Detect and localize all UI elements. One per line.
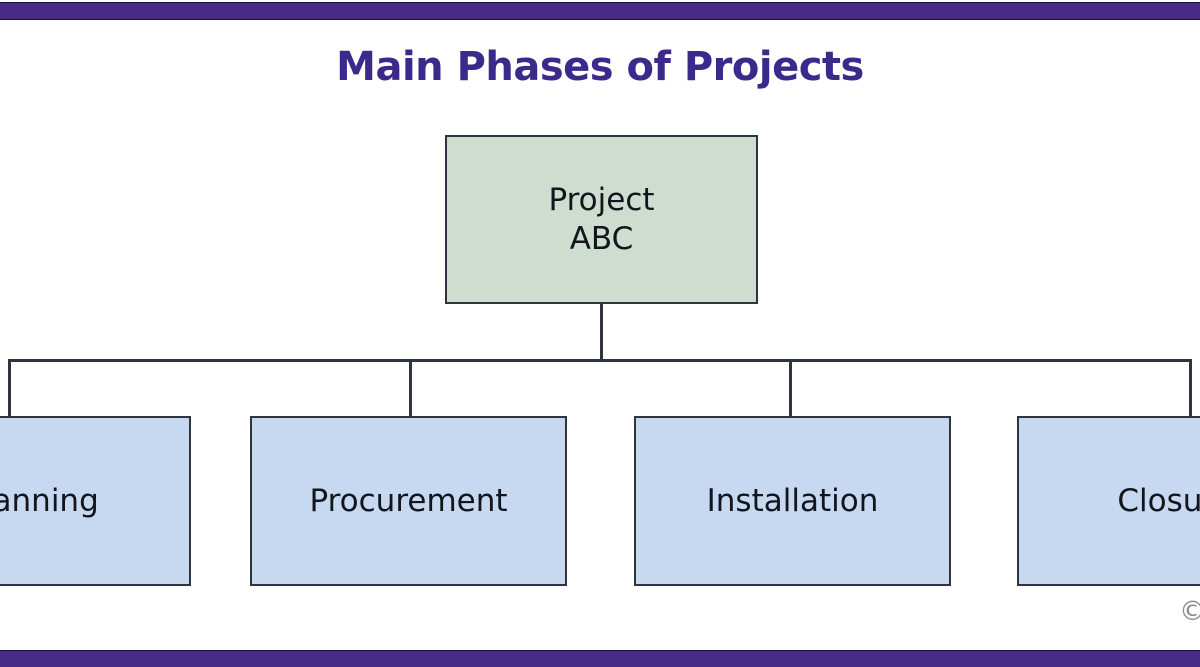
- connector-drop-installation: [789, 359, 792, 417]
- node-phase-installation-label: Installation: [707, 482, 879, 521]
- node-phase-closure[interactable]: Closure: [1017, 416, 1200, 586]
- bottom-decorative-band: [0, 650, 1200, 667]
- node-phase-procurement[interactable]: Procurement: [250, 416, 567, 586]
- node-phase-procurement-label: Procurement: [309, 482, 507, 521]
- connector-drop-closure: [1189, 359, 1192, 417]
- diagram-canvas: Main Phases of Projects Project ABC Plan…: [0, 0, 1200, 667]
- page-title: Main Phases of Projects: [0, 44, 1200, 90]
- node-root-label: Project ABC: [548, 181, 654, 259]
- node-phase-planning-label: Planning: [0, 482, 99, 521]
- connector-root-trunk: [600, 304, 603, 361]
- node-phase-planning[interactable]: Planning: [0, 416, 191, 586]
- node-root-project[interactable]: Project ABC: [445, 135, 758, 304]
- node-phase-installation[interactable]: Installation: [634, 416, 951, 586]
- node-phase-closure-label: Closure: [1117, 482, 1200, 521]
- connector-drop-planning: [8, 359, 11, 417]
- node-root-label-line2: ABC: [548, 220, 654, 259]
- connector-horizontal-bus: [8, 359, 1192, 362]
- connector-drop-procurement: [409, 359, 412, 417]
- top-decorative-band: [0, 2, 1200, 20]
- node-root-label-line1: Project: [548, 181, 654, 220]
- copyright-icon: ©: [1179, 598, 1200, 625]
